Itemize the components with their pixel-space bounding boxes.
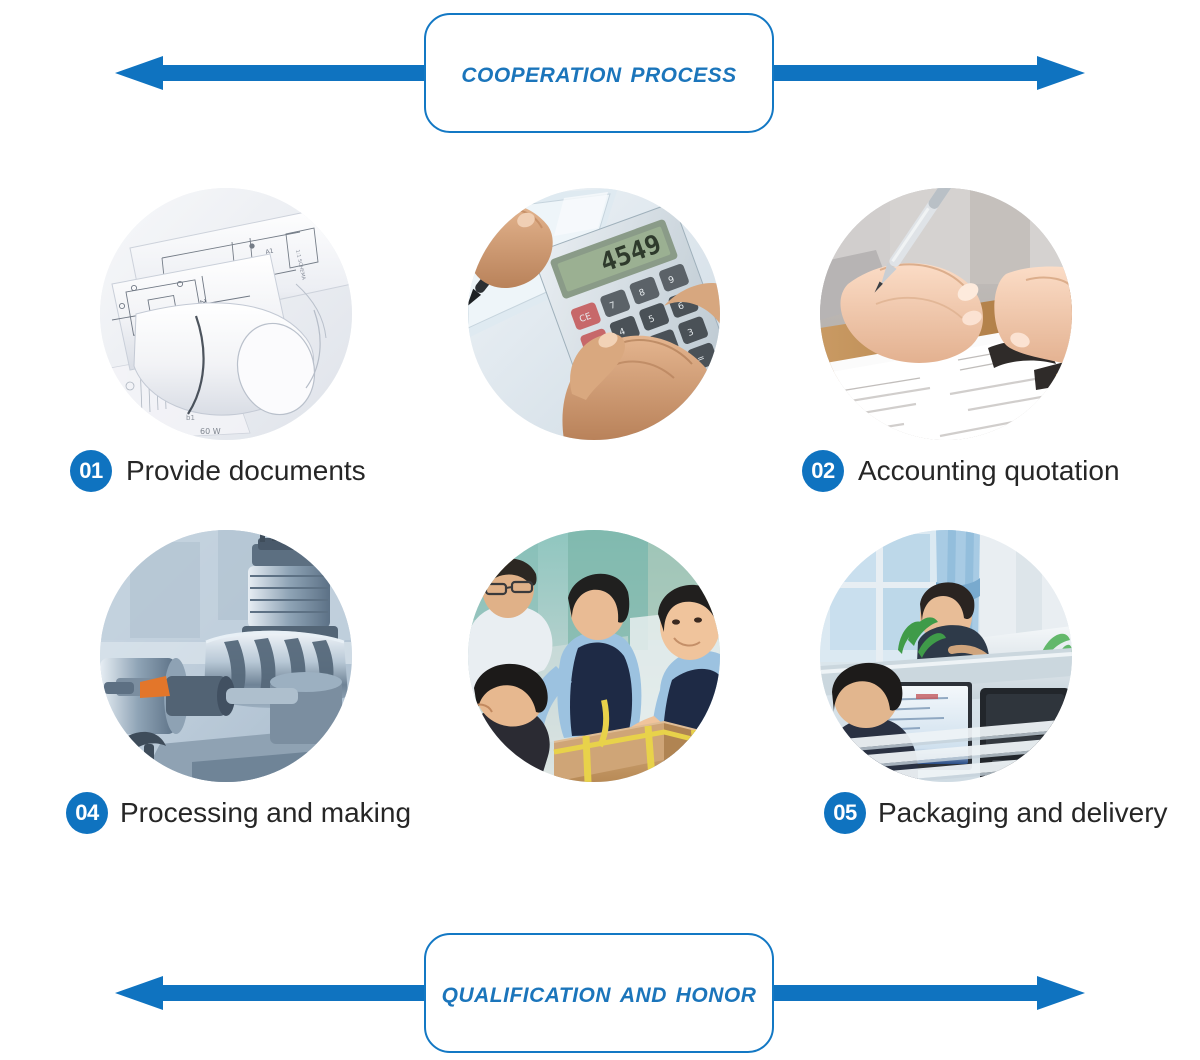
step-badge-05: 05 [824, 792, 866, 834]
arrow-right-icon [1037, 976, 1085, 1010]
caption-02: 02 Accounting quotation [802, 450, 1192, 492]
caption-04: 04 Processing and making [66, 792, 456, 834]
process-step-05[interactable]: 05 Packaging and delivery [384, 530, 774, 782]
process-step-02[interactable]: 4549 [384, 188, 774, 440]
top-banner: Cooperation process [0, 8, 1200, 138]
svg-text:60 W: 60 W [200, 427, 221, 436]
step-label-01: Provide documents [126, 457, 366, 485]
process-step-row-1: b1 60 W [0, 188, 1200, 530]
top-banner-title: Cooperation process [461, 58, 736, 88]
calculator-hands-photo: 4549 [468, 188, 720, 440]
caption-01: 01 Provide documents [70, 450, 460, 492]
bottom-banner-title: Qualification and honor [442, 978, 757, 1008]
bottom-banner-box: Qualification and honor [424, 933, 774, 1053]
process-step-01[interactable]: b1 60 W [8, 188, 398, 440]
caption-05: 05 Packaging and delivery [824, 792, 1200, 834]
step-badge-04: 04 [66, 792, 108, 834]
arrow-right-icon [1037, 56, 1085, 90]
step-label-05: Packaging and delivery [878, 799, 1168, 827]
step-label-04: Processing and making [120, 799, 411, 827]
packaging-staff-photo [468, 530, 720, 782]
process-step-06[interactable]: 06 After-sale protection [758, 530, 1148, 782]
office-support-photo [820, 530, 1072, 782]
top-banner-box: Cooperation process [424, 13, 774, 133]
svg-text:b1: b1 [186, 414, 195, 422]
bottom-banner: Qualification and honor [0, 928, 1200, 1058]
step-label-02: Accounting quotation [858, 457, 1120, 485]
process-step-row-2: 04 Processing and making [0, 530, 1200, 872]
process-step-04[interactable]: 04 Processing and making [8, 530, 398, 782]
process-steps: b1 60 W [0, 188, 1200, 872]
arrow-left-icon [115, 976, 163, 1010]
cnc-machining-photo [100, 530, 352, 782]
arrow-left-icon [115, 56, 163, 90]
signing-contract-photo [820, 188, 1072, 440]
rolled-blueprints-photo: b1 60 W [100, 188, 352, 440]
step-badge-02: 02 [802, 450, 844, 492]
process-step-03[interactable]: 03 Sign a contract [758, 188, 1148, 440]
step-badge-01: 01 [70, 450, 112, 492]
